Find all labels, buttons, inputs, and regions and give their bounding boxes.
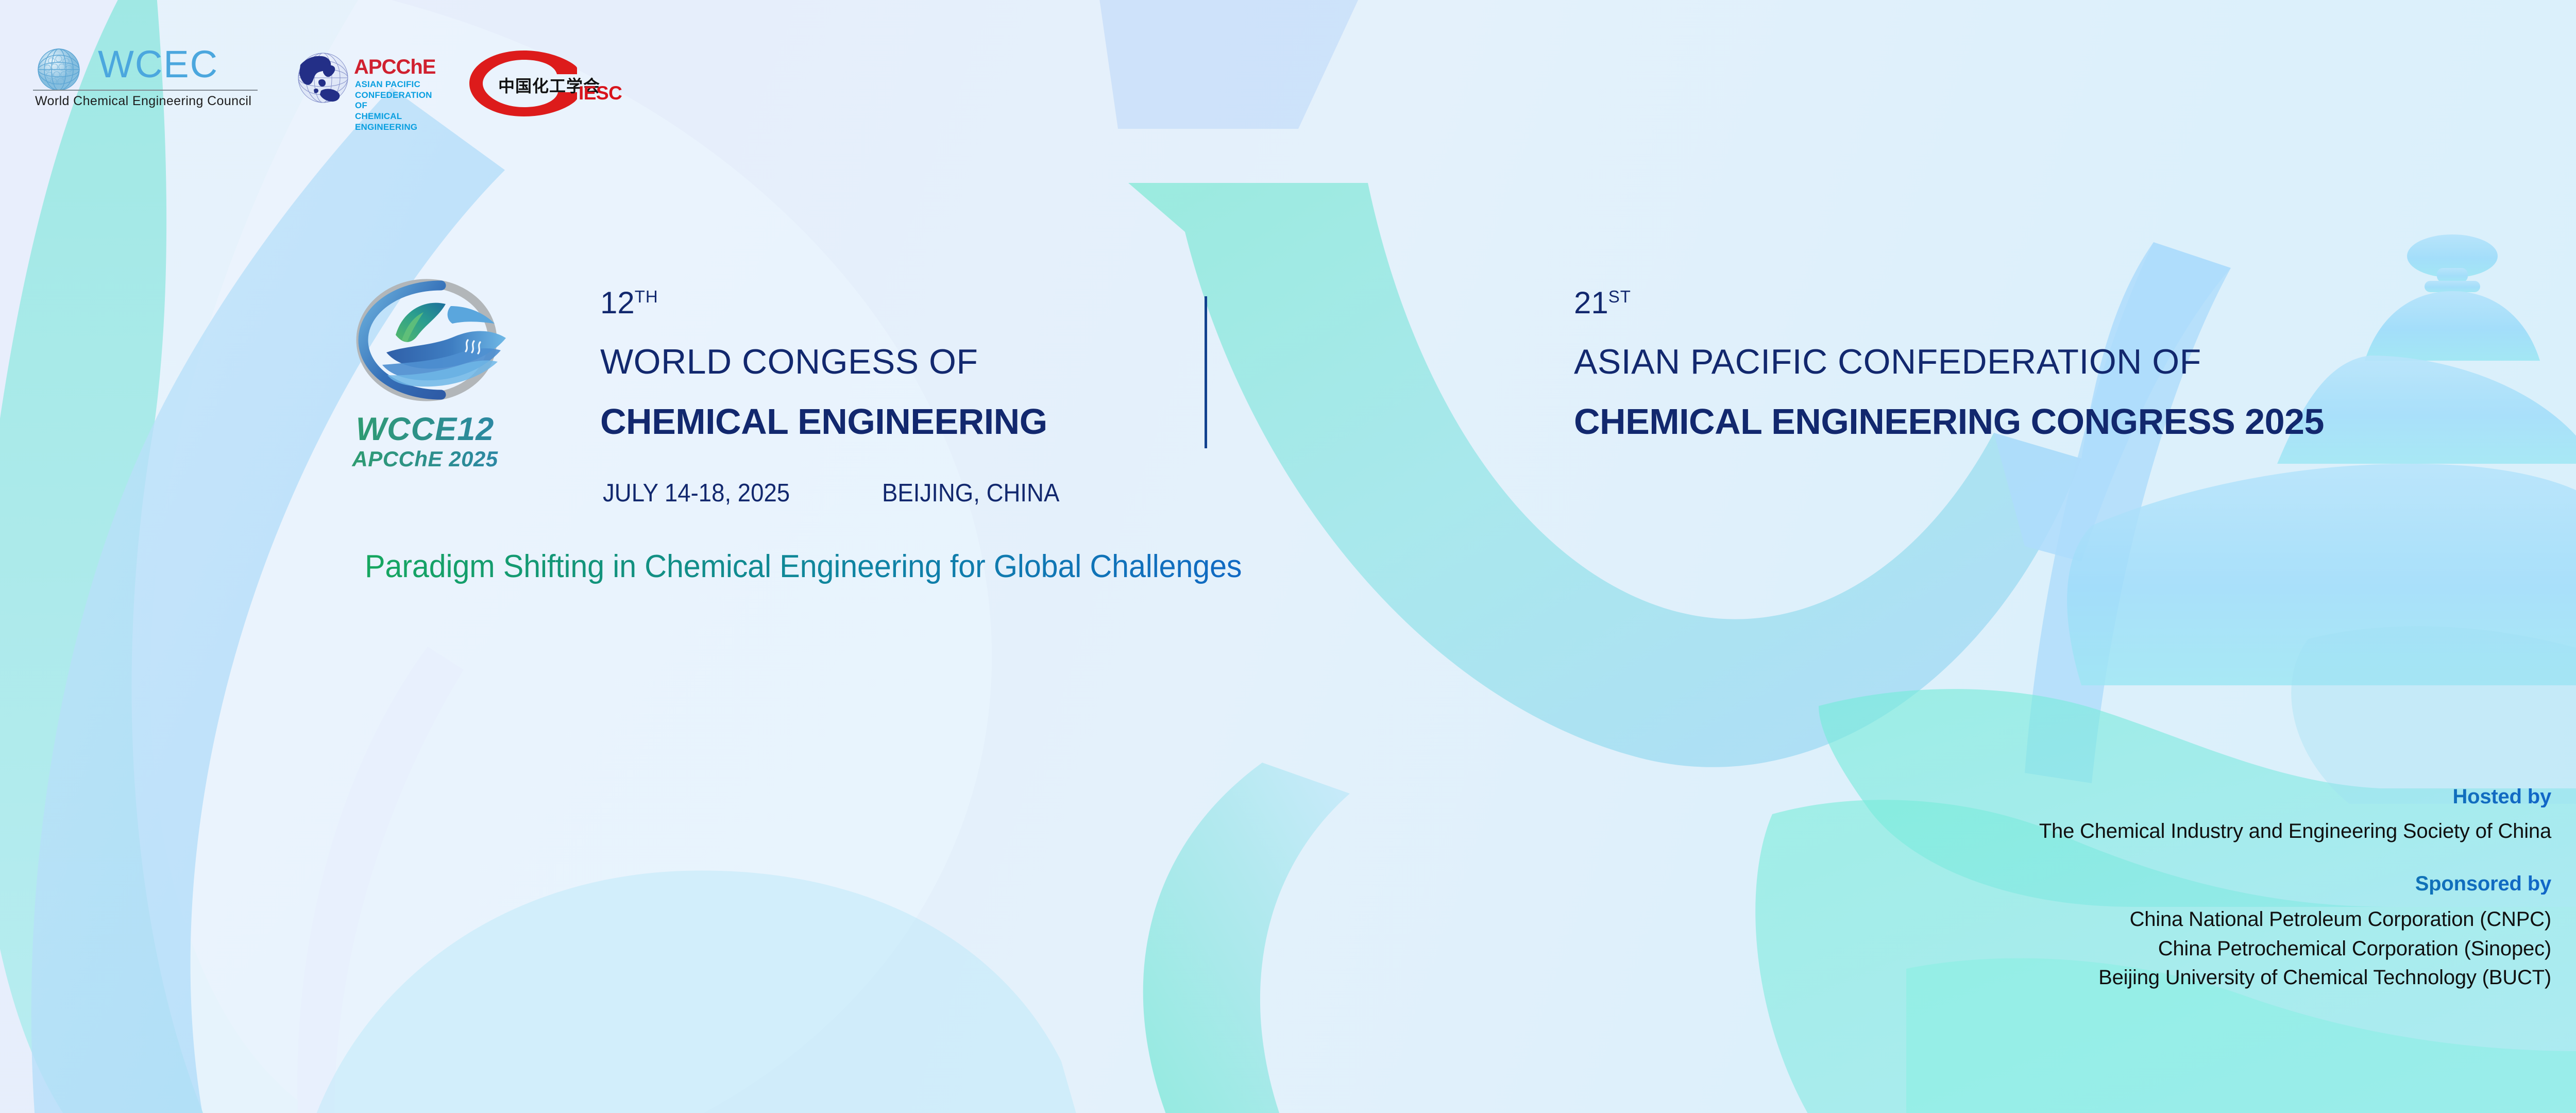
sponsored-by-item: China National Petroleum Corporation (CN… <box>1665 905 2551 934</box>
apcche-subtitle-line2: CONFEDERATION OF <box>355 90 440 111</box>
congress-tagline: Paradigm Shifting in Chemical Engineerin… <box>365 548 1242 585</box>
congress-right-line-thin: ASIAN PACIFIC CONFEDERATION OF <box>1574 344 2201 379</box>
wcec-acronym: WCEC <box>98 45 218 83</box>
title-column-divider <box>1205 296 1207 448</box>
globe-hexagon-icon <box>32 46 89 93</box>
congress-right-ordinal: 21ST <box>1574 288 1631 318</box>
wcec-logo[interactable]: WCEC World Chemical Engineering Council <box>32 47 259 125</box>
sponsors-block: Hosted by The Chemical Industry and Engi… <box>1665 786 2551 992</box>
congress-location: BEIJING, CHINA <box>882 479 1059 508</box>
partner-logo-strip: WCEC World Chemical Engineering Council <box>0 0 670 134</box>
congress-right-line-bold: CHEMICAL ENGINEERING CONGRESS 2025 <box>1574 403 2324 440</box>
apcche-logo[interactable]: APCChE ASIAN PACIFIC CONFEDERATION OF CH… <box>296 47 440 125</box>
sponsored-by-label: Sponsored by <box>1665 873 2551 895</box>
congress-left-ordinal-number: 12 <box>600 285 635 320</box>
wcce12-name: WCCE12 <box>340 413 510 446</box>
globe-asia-pacific-icon <box>296 49 350 106</box>
wcec-divider-rule <box>33 90 258 91</box>
apcche-acronym: APCChE <box>354 57 435 77</box>
congress-date: JULY 14-18, 2025 <box>603 479 790 508</box>
sponsored-by-item: Beijing University of Chemical Technolog… <box>1665 963 2551 992</box>
hosted-by-item: The Chemical Industry and Engineering So… <box>1665 817 2551 846</box>
wcce12-logo[interactable]: WCCE12 APCChE 2025 <box>340 278 510 515</box>
congress-title-block: WCCE12 APCChE 2025 12TH WORLD CONGESS OF… <box>340 278 1937 520</box>
hosted-by-label: Hosted by <box>1665 786 2551 807</box>
ciesc-logo[interactable]: 中国化工学会 IESC <box>466 47 636 125</box>
congress-left-ordinal-suffix: TH <box>635 287 658 306</box>
congress-left-ordinal: 12TH <box>600 288 658 318</box>
congress-right-ordinal-number: 21 <box>1574 285 1608 320</box>
congress-left-line-bold: CHEMICAL ENGINEERING <box>600 403 1047 440</box>
apcche-subtitle-line3: CHEMICAL ENGINEERING <box>355 111 440 132</box>
sponsored-by-item: China Petrochemical Corporation (Sinopec… <box>1665 934 2551 964</box>
wcec-subtitle: World Chemical Engineering Council <box>35 94 251 109</box>
ciesc-acronym: IESC <box>579 82 622 104</box>
apcche-subtitle-line1: ASIAN PACIFIC <box>355 79 440 90</box>
congress-left-line-thin: WORLD CONGESS OF <box>600 344 978 379</box>
wcce-wave-leaf-icon <box>340 274 510 413</box>
wcce12-year-line: APCChE 2025 <box>340 448 510 470</box>
congress-right-ordinal-suffix: ST <box>1608 287 1631 306</box>
apcche-subtitle: ASIAN PACIFIC CONFEDERATION OF CHEMICAL … <box>355 79 440 133</box>
conference-banner: WCEC World Chemical Engineering Council <box>0 0 2576 1113</box>
